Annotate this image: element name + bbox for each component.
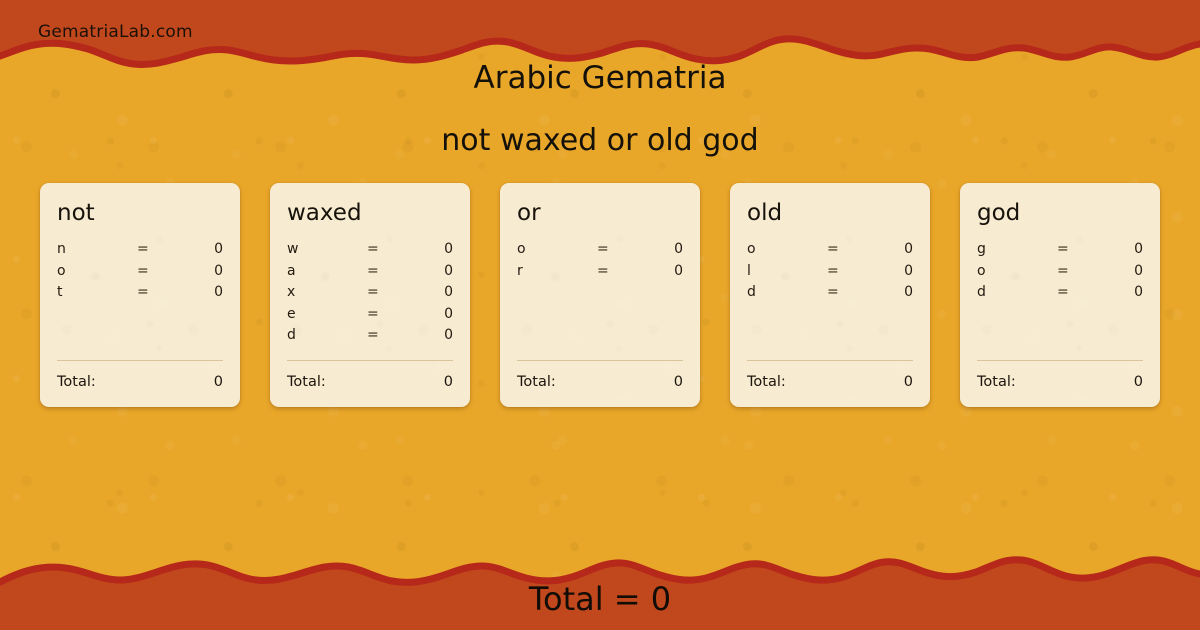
equals-sign: = [137, 263, 179, 279]
card-total-label: Total: [517, 374, 556, 390]
card-spacer [57, 306, 223, 360]
letter-value-row: t=0 [57, 284, 223, 306]
card-spacer [287, 349, 453, 360]
letter-value-row: o=0 [747, 241, 913, 263]
word-card: oro=0r=0Total:0 [500, 183, 700, 407]
letter-value: 0 [869, 263, 913, 279]
letter-value-row: o=0 [57, 263, 223, 285]
letter-value: 0 [1099, 284, 1143, 300]
site-brand-label: GematriaLab.com [38, 22, 193, 42]
card-divider [517, 360, 683, 361]
word-card: oldo=0l=0d=0Total:0 [730, 183, 930, 407]
card-total-label: Total: [287, 374, 326, 390]
card-word-label: old [747, 201, 913, 225]
letter-value: 0 [1099, 263, 1143, 279]
letter-char: x [287, 284, 367, 300]
letter-value-row: e=0 [287, 306, 453, 328]
letter-value: 0 [409, 241, 453, 257]
letter-value-list: n=0o=0t=0 [57, 241, 223, 306]
letter-value-list: o=0r=0 [517, 241, 683, 284]
letter-value: 0 [639, 241, 683, 257]
equals-sign: = [827, 263, 869, 279]
equals-sign: = [137, 241, 179, 257]
letter-value: 0 [409, 284, 453, 300]
card-total-row: Total:0 [57, 374, 223, 407]
phrase-subtitle: not waxed or old god [0, 123, 1200, 158]
letter-value: 0 [1099, 241, 1143, 257]
word-card: notn=0o=0t=0Total:0 [40, 183, 240, 407]
card-total-label: Total: [747, 374, 786, 390]
word-card-row: notn=0o=0t=0Total:0waxedw=0a=0x=0e=0d=0T… [40, 183, 1160, 407]
card-total-row: Total:0 [747, 374, 913, 407]
card-total-value: 0 [674, 374, 683, 390]
letter-char: r [517, 263, 597, 279]
letter-char: d [747, 284, 827, 300]
equals-sign: = [367, 241, 409, 257]
equals-sign: = [367, 284, 409, 300]
letter-value-row: d=0 [977, 284, 1143, 306]
letter-char: o [977, 263, 1057, 279]
letter-value-list: o=0l=0d=0 [747, 241, 913, 306]
card-spacer [747, 306, 913, 360]
letter-value: 0 [409, 263, 453, 279]
card-total-label: Total: [57, 374, 96, 390]
card-spacer [977, 306, 1143, 360]
letter-char: t [57, 284, 137, 300]
letter-value-row: x=0 [287, 284, 453, 306]
grand-total-label: Total = 0 [0, 580, 1200, 618]
letter-value-row: g=0 [977, 241, 1143, 263]
card-total-row: Total:0 [287, 374, 453, 407]
equals-sign: = [597, 263, 639, 279]
letter-value: 0 [179, 263, 223, 279]
equals-sign: = [827, 284, 869, 300]
letter-char: g [977, 241, 1057, 257]
letter-value: 0 [179, 284, 223, 300]
letter-value-row: r=0 [517, 263, 683, 285]
card-word-label: or [517, 201, 683, 225]
card-total-row: Total:0 [977, 374, 1143, 407]
letter-char: n [57, 241, 137, 257]
card-total-value: 0 [444, 374, 453, 390]
card-word-label: not [57, 201, 223, 225]
page-title: Arabic Gematria [0, 60, 1200, 96]
letter-value-row: a=0 [287, 263, 453, 285]
equals-sign: = [597, 241, 639, 257]
letter-value-row: d=0 [287, 327, 453, 349]
equals-sign: = [1057, 263, 1099, 279]
letter-char: e [287, 306, 367, 322]
equals-sign: = [367, 263, 409, 279]
letter-value-row: d=0 [747, 284, 913, 306]
letter-value: 0 [409, 306, 453, 322]
equals-sign: = [367, 306, 409, 322]
letter-value: 0 [639, 263, 683, 279]
card-divider [747, 360, 913, 361]
word-card: godg=0o=0d=0Total:0 [960, 183, 1160, 407]
letter-char: l [747, 263, 827, 279]
equals-sign: = [1057, 284, 1099, 300]
letter-char: d [287, 327, 367, 343]
card-total-value: 0 [1134, 374, 1143, 390]
card-total-label: Total: [977, 374, 1016, 390]
letter-char: o [747, 241, 827, 257]
card-spacer [517, 284, 683, 360]
card-word-label: waxed [287, 201, 453, 225]
card-total-value: 0 [214, 374, 223, 390]
equals-sign: = [367, 327, 409, 343]
letter-value-row: w=0 [287, 241, 453, 263]
card-total-value: 0 [904, 374, 913, 390]
word-card: waxedw=0a=0x=0e=0d=0Total:0 [270, 183, 470, 407]
letter-value: 0 [409, 327, 453, 343]
letter-value-row: l=0 [747, 263, 913, 285]
letter-char: w [287, 241, 367, 257]
letter-char: a [287, 263, 367, 279]
letter-value-list: g=0o=0d=0 [977, 241, 1143, 306]
letter-value-row: n=0 [57, 241, 223, 263]
card-total-row: Total:0 [517, 374, 683, 407]
equals-sign: = [1057, 241, 1099, 257]
card-divider [287, 360, 453, 361]
letter-value: 0 [179, 241, 223, 257]
card-divider [977, 360, 1143, 361]
letter-value-row: o=0 [977, 263, 1143, 285]
letter-char: o [517, 241, 597, 257]
letter-char: o [57, 263, 137, 279]
equals-sign: = [827, 241, 869, 257]
card-divider [57, 360, 223, 361]
letter-value-row: o=0 [517, 241, 683, 263]
letter-char: d [977, 284, 1057, 300]
equals-sign: = [137, 284, 179, 300]
letter-value: 0 [869, 241, 913, 257]
letter-value: 0 [869, 284, 913, 300]
letter-value-list: w=0a=0x=0e=0d=0 [287, 241, 453, 349]
card-word-label: god [977, 201, 1143, 225]
gematria-result-card: GematriaLab.com Arabic Gematria not waxe… [0, 0, 1200, 630]
